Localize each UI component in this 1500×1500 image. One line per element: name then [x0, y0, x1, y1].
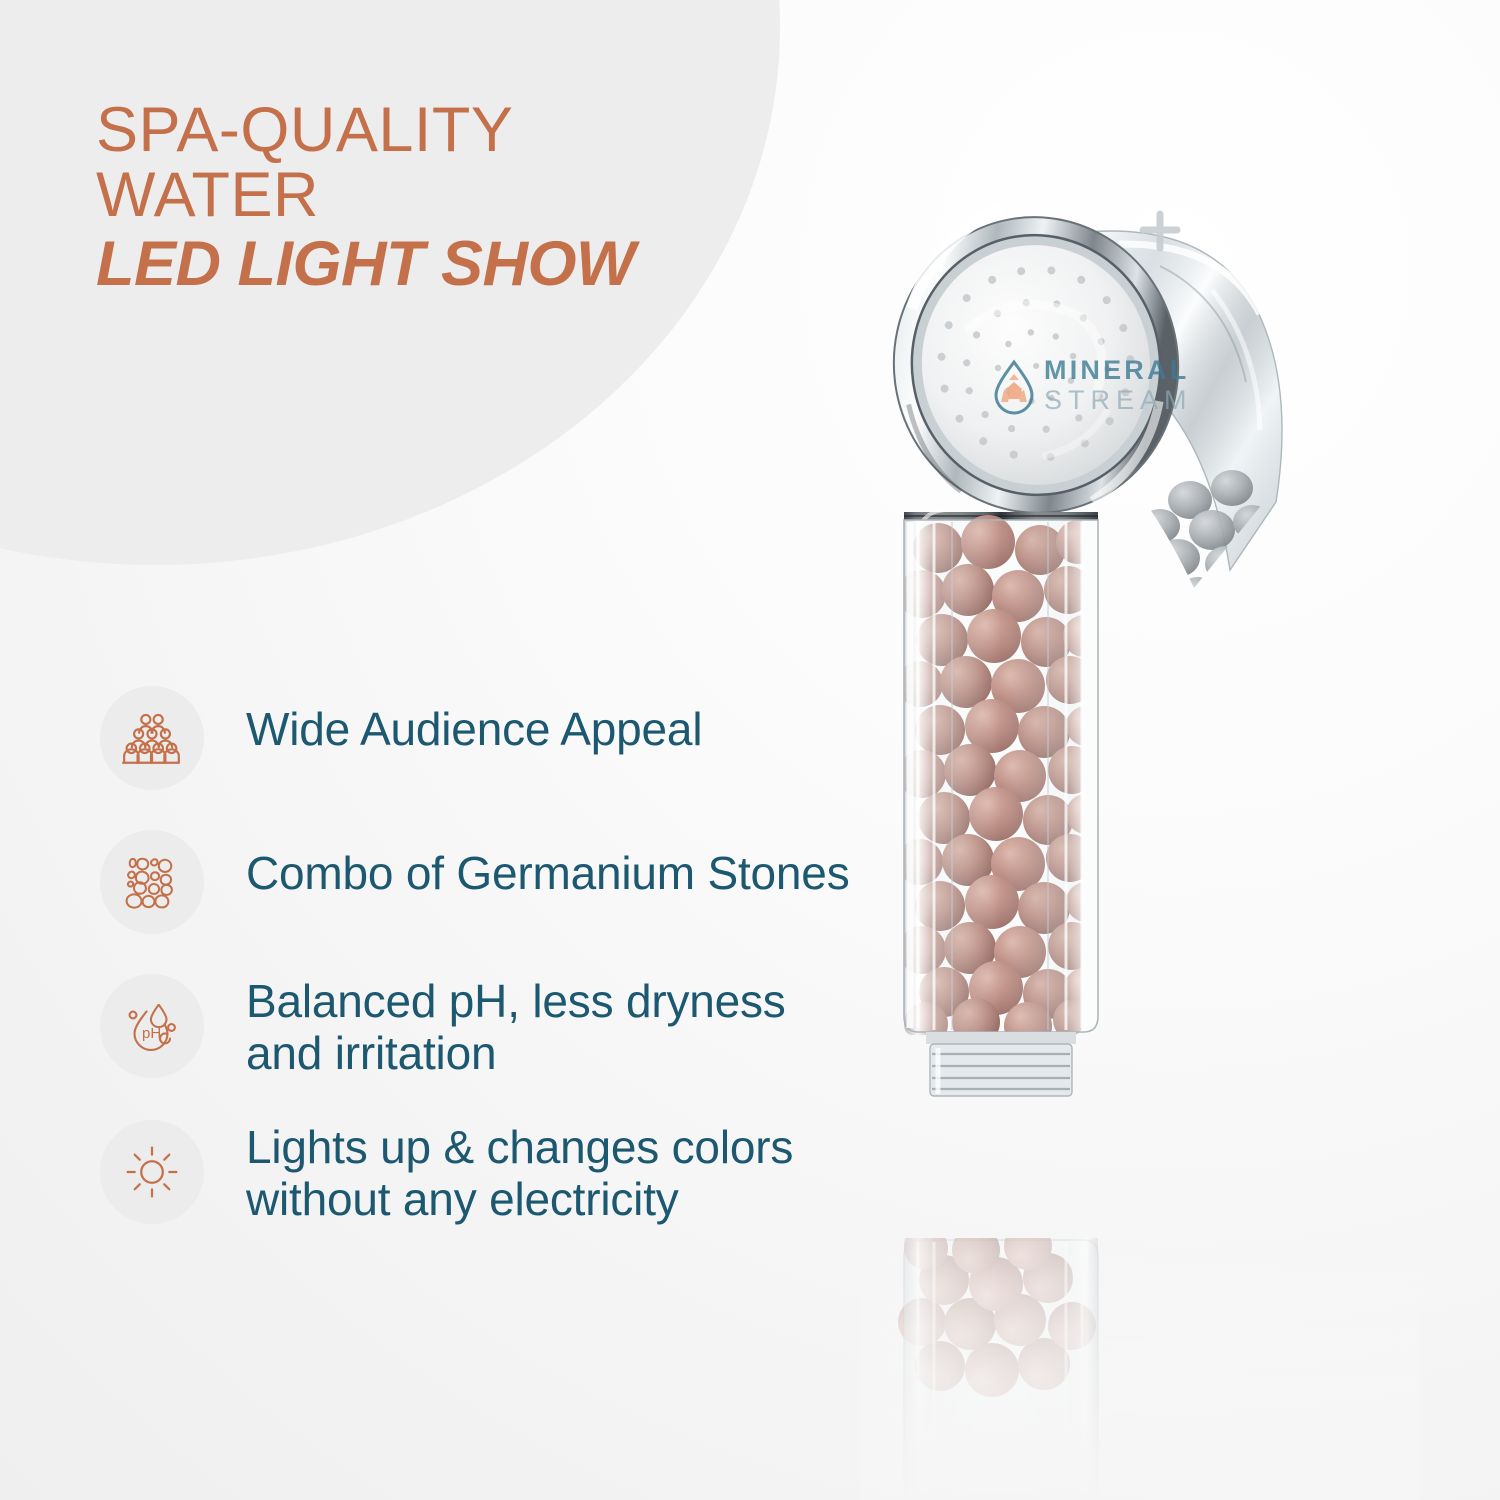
headline-line-1: SPA-QUALITY	[96, 98, 796, 163]
ph-droplet-icon: pH	[100, 974, 204, 1078]
people-group-icon	[100, 686, 204, 790]
sun-icon	[100, 1120, 204, 1224]
feature-label: Balanced pH, less dryness and irritation	[246, 974, 786, 1080]
headline-line-2: WATER	[96, 163, 796, 228]
infographic-canvas: SPA-QUALITY WATER LED LIGHT SHOW	[0, 0, 1500, 1500]
threaded-connector	[926, 1032, 1076, 1096]
product-reflection	[860, 1176, 1420, 1500]
germanium-bead-fill	[897, 515, 1106, 1050]
feature-label: Combo of Germanium Stones	[246, 830, 850, 900]
handle-tube	[897, 515, 1106, 1050]
headline-line-3: LED LIGHT SHOW	[96, 232, 796, 297]
svg-text:pH: pH	[142, 1025, 161, 1042]
product-image-shower-head: MINERAL STREAM	[860, 170, 1420, 1500]
feature-label: Wide Audience Appeal	[246, 686, 702, 756]
feature-label: Lights up & changes colors without any e…	[246, 1120, 793, 1226]
page-title: SPA-QUALITY WATER LED LIGHT SHOW	[96, 98, 796, 297]
stones-icon	[100, 830, 204, 934]
